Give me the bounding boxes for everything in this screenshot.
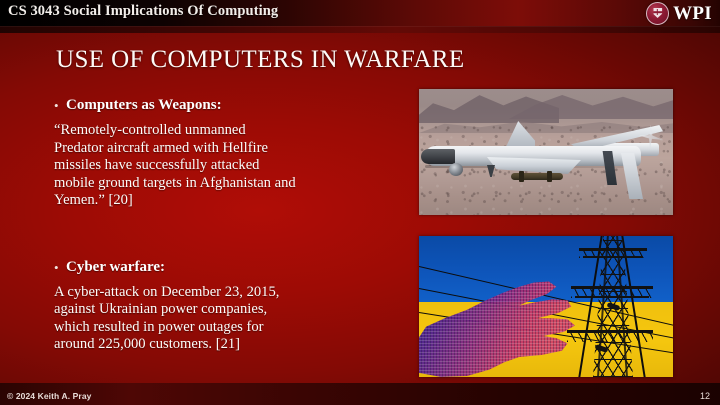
wpi-logo: WPI bbox=[646, 1, 712, 25]
page-title: USE OF COMPUTERS IN WARFARE bbox=[56, 46, 465, 74]
bullet-point-icon: • bbox=[54, 96, 66, 115]
bullet-heading-weapons: Computers as Weapons: bbox=[66, 96, 222, 115]
footer-page-number: 12 bbox=[700, 391, 710, 401]
drone-sensor-turret bbox=[449, 163, 463, 176]
seal-bar-shape bbox=[653, 12, 662, 14]
drone-hellfire-missiles bbox=[511, 173, 563, 180]
bullet-point-icon: • bbox=[54, 258, 66, 277]
drone-nose-cone bbox=[421, 149, 455, 164]
body-text-cyber: A cyber-attack on December 23, 2015, aga… bbox=[54, 284, 404, 354]
predator-drone-photo bbox=[419, 89, 673, 215]
pylon-crossarm-brace bbox=[579, 248, 647, 258]
course-title: CS 3043 Social Implications Of Computing bbox=[8, 3, 278, 20]
transmission-tower-shape bbox=[565, 236, 651, 377]
bullet-row-weapons: • Computers as Weapons: bbox=[54, 96, 404, 115]
cyber-attack-ukraine-photo bbox=[419, 236, 673, 377]
header-gloss-strip bbox=[0, 26, 720, 33]
footer-bar bbox=[0, 383, 720, 405]
bullet-heading-cyber: Cyber warfare: bbox=[66, 258, 165, 277]
content-column: • Computers as Weapons: “Remotely-contro… bbox=[54, 96, 404, 368]
pylon-crossarm-brace bbox=[567, 330, 653, 342]
wpi-wordmark: WPI bbox=[673, 4, 712, 23]
body-text-weapons: “Remotely-controlled unmanned Predator a… bbox=[54, 122, 404, 210]
content-block-cyber: • Cyber warfare: A cyber-attack on Decem… bbox=[54, 258, 404, 354]
drone-aircraft-shape bbox=[425, 119, 667, 203]
footer-copyright: © 2024 Keith A. Pray bbox=[7, 391, 92, 401]
bullet-row-cyber: • Cyber warfare: bbox=[54, 258, 404, 277]
drone-weapon-pylon bbox=[487, 165, 495, 177]
pylon-crossarm-brace bbox=[571, 286, 653, 298]
wpi-seal-icon bbox=[646, 2, 669, 25]
content-block-weapons: • Computers as Weapons: “Remotely-contro… bbox=[54, 96, 404, 210]
drone-vertical-stabilizer bbox=[505, 121, 535, 149]
slide-canvas: CS 3043 Social Implications Of Computing… bbox=[0, 0, 720, 405]
